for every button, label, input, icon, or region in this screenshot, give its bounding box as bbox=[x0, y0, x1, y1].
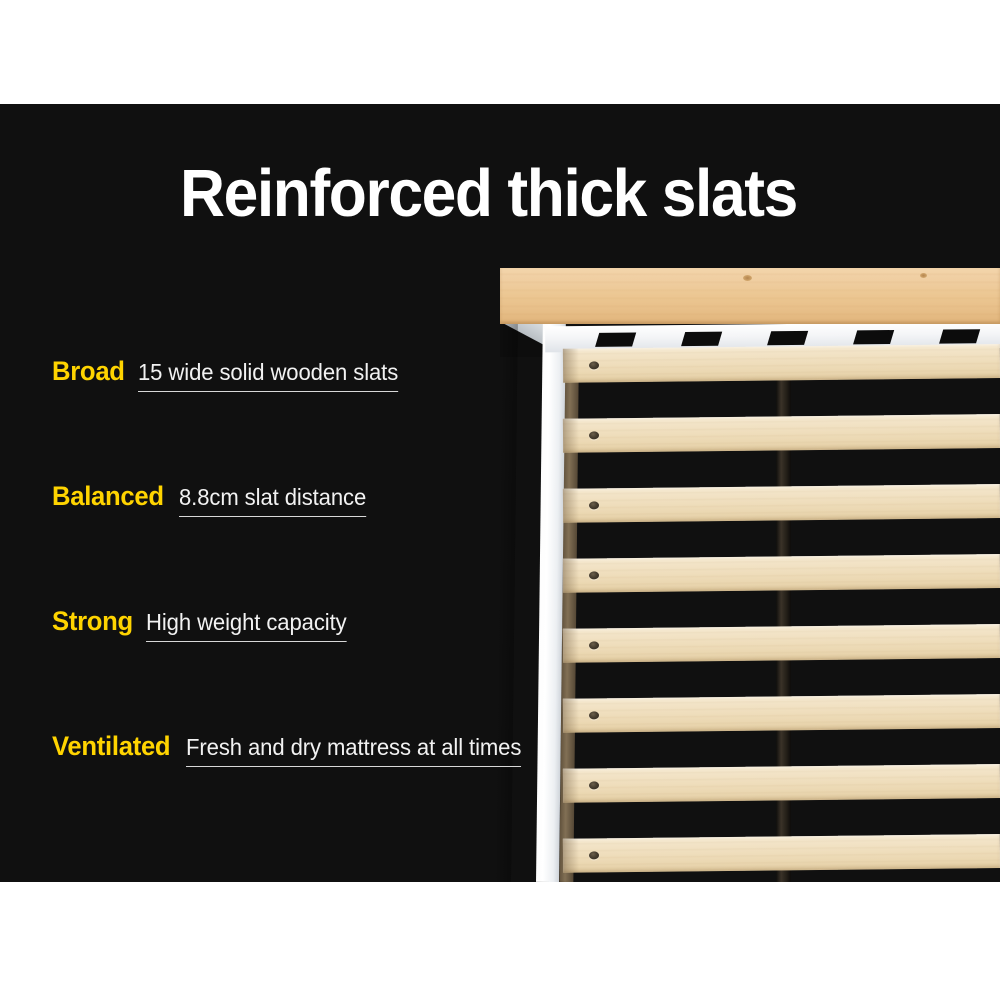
wood-knot bbox=[743, 275, 752, 281]
wood-knot bbox=[920, 273, 927, 278]
feature-description: High weight capacity bbox=[146, 609, 347, 642]
feature-item-strong: Strong High weight capacity bbox=[52, 606, 672, 731]
feature-item-balanced: Balanced 8.8cm slat distance bbox=[52, 481, 672, 606]
page-title: Reinforced thick slats bbox=[180, 160, 831, 228]
feature-label: Balanced bbox=[52, 481, 164, 512]
feature-description: 8.8cm slat distance bbox=[179, 484, 366, 517]
feature-label: Strong bbox=[52, 606, 133, 637]
feature-description: Fresh and dry mattress at all times bbox=[186, 734, 521, 767]
feature-list: Broad 15 wide solid wooden slats Balance… bbox=[52, 356, 672, 856]
rail-gap bbox=[595, 332, 636, 346]
feature-label: Broad bbox=[52, 356, 125, 387]
feature-label: Ventilated bbox=[52, 731, 170, 762]
feature-item-broad: Broad 15 wide solid wooden slats bbox=[52, 356, 672, 481]
pine-top-rail bbox=[500, 268, 1000, 324]
rail-gap bbox=[853, 330, 894, 344]
rail-gap bbox=[681, 332, 722, 346]
product-feature-banner: Reinforced thick slats Broad 15 wide sol… bbox=[0, 0, 1000, 1000]
feature-item-ventilated: Ventilated Fresh and dry mattress at all… bbox=[52, 731, 672, 856]
rail-gap bbox=[939, 329, 980, 343]
feature-description: 15 wide solid wooden slats bbox=[138, 359, 398, 392]
rail-gap bbox=[767, 331, 808, 345]
